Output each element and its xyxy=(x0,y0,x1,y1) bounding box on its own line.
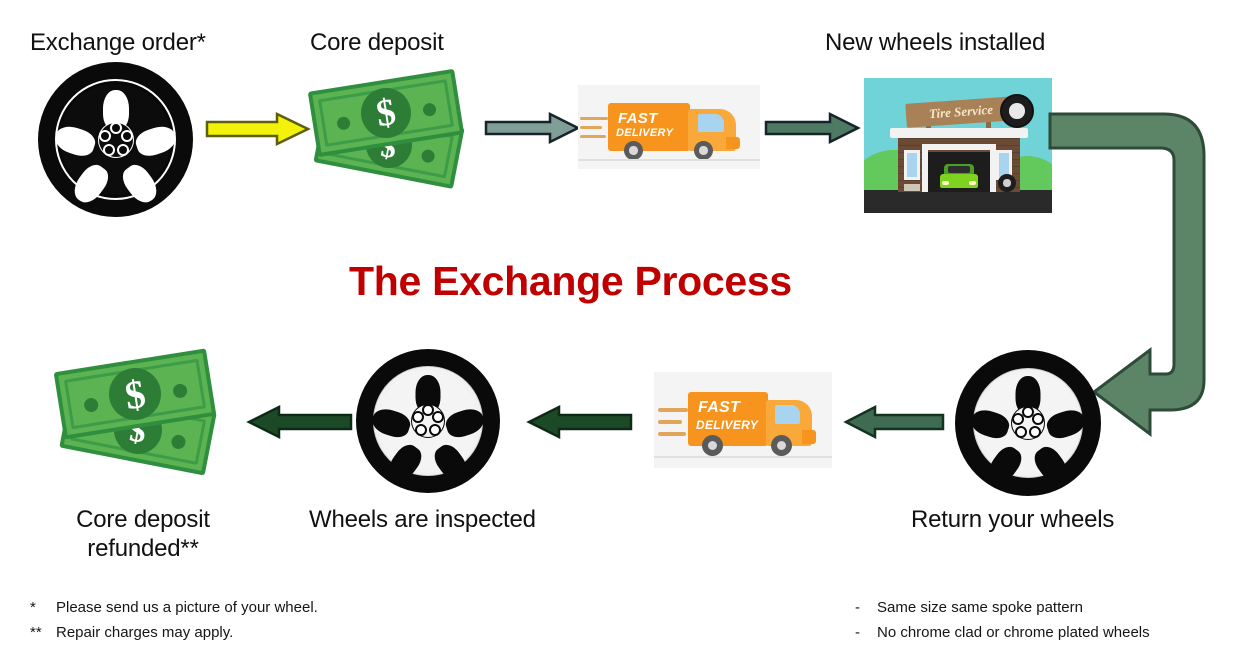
money-icon-top: $ $ xyxy=(312,70,477,205)
label-return-your-wheels: Return your wheels xyxy=(911,505,1114,534)
label-refund-line1: Core deposit xyxy=(33,505,253,534)
footnote-mark: - xyxy=(855,621,877,646)
label-core-deposit-refunded: Core deposit refunded** xyxy=(33,505,253,564)
arrow-deposit-to-truck xyxy=(484,112,580,144)
label-wheels-inspected: Wheels are inspected xyxy=(309,505,536,534)
footnotes-left: * Please send us a picture of your wheel… xyxy=(30,596,318,646)
truck-label-fast-bottom: FAST xyxy=(698,400,740,417)
footnote-row: - Same size same spoke pattern xyxy=(855,596,1150,621)
footnote-row: - No chrome clad or chrome plated wheels xyxy=(855,621,1150,646)
truck-label-delivery-bottom: DELIVERY xyxy=(696,419,758,432)
footnote-mark: ** xyxy=(30,621,56,646)
delivery-truck-icon-bottom: FAST DELIVERY xyxy=(654,372,832,468)
label-core-deposit: Core deposit xyxy=(310,28,444,57)
shop-sign-text: Tire Service xyxy=(928,102,993,122)
footnote-mark: * xyxy=(30,596,56,621)
footnote-text: No chrome clad or chrome plated wheels xyxy=(877,621,1150,646)
label-exchange-order: Exchange order* xyxy=(30,28,206,57)
arrow-return-to-truck xyxy=(843,405,945,439)
arrow-inspect-to-refund xyxy=(245,405,353,439)
tire-service-shop-icon: Tire Service xyxy=(864,78,1052,213)
arrow-truck-to-inspect xyxy=(525,405,633,439)
arrow-order-to-deposit xyxy=(205,112,310,146)
footnote-text: Repair charges may apply. xyxy=(56,621,233,646)
wheel-light-icon-return xyxy=(955,350,1101,496)
footnotes-right: - Same size same spoke pattern - No chro… xyxy=(855,596,1150,646)
wheel-dark-icon xyxy=(38,62,193,217)
footnote-mark: - xyxy=(855,596,877,621)
wheel-light-icon-inspected xyxy=(356,349,500,493)
footnote-row: ** Repair charges may apply. xyxy=(30,621,318,646)
label-new-wheels-installed: New wheels installed xyxy=(825,28,1045,57)
truck-label-fast-top: FAST xyxy=(618,111,658,127)
footnote-text: Same size same spoke pattern xyxy=(877,596,1083,621)
exchange-process-diagram: Exchange order* Core deposit New wheels … xyxy=(0,0,1250,666)
truck-label-delivery-top: DELIVERY xyxy=(616,128,673,140)
page-title: The Exchange Process xyxy=(349,258,792,305)
arrow-truck-to-shop xyxy=(764,112,860,144)
footnote-row: * Please send us a picture of your wheel… xyxy=(30,596,318,621)
footnote-text: Please send us a picture of your wheel. xyxy=(56,596,318,621)
label-refund-line2: refunded** xyxy=(33,534,253,563)
delivery-truck-icon-top: FAST DELIVERY xyxy=(578,85,760,169)
money-icon-bottom: $ $ xyxy=(58,348,230,488)
